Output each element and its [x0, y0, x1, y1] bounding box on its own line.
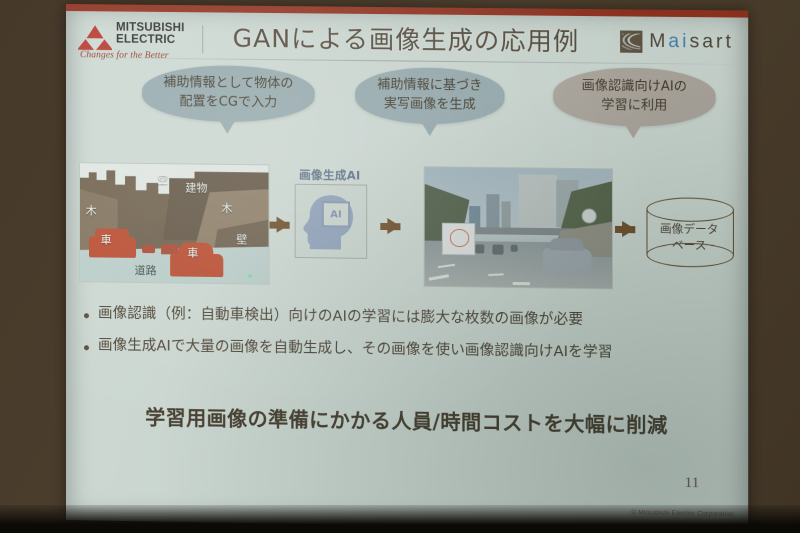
callout-1-line-1: 補助情報として物体の — [163, 74, 293, 94]
cg-label-tree-left: 木 — [86, 202, 97, 218]
cg-label-tree-right: 木 — [221, 200, 232, 216]
photo-building-tall — [518, 174, 557, 231]
callout-2-line-1: 補助情報に基づき — [377, 76, 482, 96]
photo-car-far-1 — [475, 244, 484, 254]
list-item: 画像生成AIで大量の画像を自動生成し、その画像を使い画像認識向けAIを学習 — [84, 336, 738, 364]
cg-green-marker — [249, 275, 252, 278]
cg-label-wall: 壁 — [236, 231, 247, 247]
photo-lane-mark-4 — [513, 282, 530, 285]
presentation-slide[interactable]: MITSUBISHI ELECTRIC Changes for the Bett… — [66, 4, 748, 531]
photo-car-far-2 — [492, 244, 503, 255]
bullet-text-2: 画像生成AIで大量の画像を自動生成し、その画像を使い画像認識向けAIを学習 — [98, 336, 613, 362]
conclusion-statement: 学習用画像の準備にかかる人員/時間コストを大幅に削減 — [66, 400, 748, 440]
callout-3-tail — [625, 123, 643, 138]
arrow-photo-to-database-icon — [622, 221, 635, 237]
semantic-layout-cg-image: 空 建物 木 木 壁 車 車 道路 — [79, 162, 270, 285]
list-item: 画像認識（例：自動車検出）向けのAIの学習には膨大な枚数の画像が必要 — [84, 304, 738, 332]
callout-train-recognition-ai: 画像認識向けAIの 学習に利用 — [553, 67, 715, 127]
maisart-mark-icon — [620, 30, 642, 52]
image-database-cylinder: 画像データ ベース — [646, 197, 731, 265]
ai-chip-label: AI — [322, 201, 350, 227]
bullet-dot-icon — [84, 313, 89, 318]
photo-car-far-3 — [511, 244, 518, 251]
bullet-list: 画像認識（例：自動車検出）向けのAIの学習には膨大な枚数の画像が必要 画像生成A… — [84, 304, 738, 377]
cg-label-car-right: 車 — [187, 245, 198, 261]
page-number: 11 — [685, 475, 700, 492]
copyright-notice: © Mitsubishi Electric Corporation — [631, 509, 734, 518]
cg-label-building: 建物 — [185, 180, 207, 196]
callout-1-tail — [218, 119, 236, 134]
callout-input-cg: 補助情報として物体の 配置をCGで入力 — [142, 65, 315, 123]
cg-far-car-1 — [142, 245, 155, 252]
photo-truck — [441, 222, 475, 255]
database-label-line-2: ベース — [646, 237, 731, 254]
cg-label-car-left: 車 — [101, 232, 112, 248]
arrow-ai-to-photo-icon — [387, 218, 400, 234]
cg-car-left — [89, 236, 136, 258]
projector-screen-scene: MITSUBISHI ELECTRIC Changes for the Bett… — [0, 0, 800, 533]
maisart-wordmark: Maisart — [649, 31, 734, 54]
callout-2-tail — [421, 121, 439, 136]
callout-generate-photo: 補助情報に基づき 実写画像を生成 — [355, 67, 504, 125]
generated-road-scene-image — [424, 166, 613, 289]
bullet-dot-icon — [84, 345, 89, 350]
image-generation-ai-block: 画像生成AI AI — [289, 167, 372, 280]
database-label: 画像データ ベース — [646, 221, 731, 253]
ai-block-caption: 画像生成AI — [289, 167, 372, 184]
photo-car-near — [543, 248, 592, 274]
ai-block-frame: AI — [295, 184, 368, 259]
bullet-text-1: 画像認識（例：自動車検出）向けのAIの学習には膨大な枚数の画像が必要 — [98, 304, 583, 330]
callout-3-line-2: 学習に利用 — [582, 97, 687, 117]
callout-2-line-2: 実写画像を生成 — [377, 95, 482, 115]
database-label-line-1: 画像データ — [646, 221, 731, 238]
maisart-logo[interactable]: Maisart — [620, 28, 734, 55]
callout-3-line-1: 画像認識向けAIの — [582, 78, 687, 98]
cg-label-road: 道路 — [135, 262, 157, 278]
slide-header: MITSUBISHI ELECTRIC Changes for the Bett… — [66, 11, 748, 65]
photo-road-sign-icon — [582, 208, 597, 223]
cg-label-sky: 空 — [157, 171, 168, 187]
callout-1-line-2: 配置をCGで入力 — [163, 93, 293, 113]
